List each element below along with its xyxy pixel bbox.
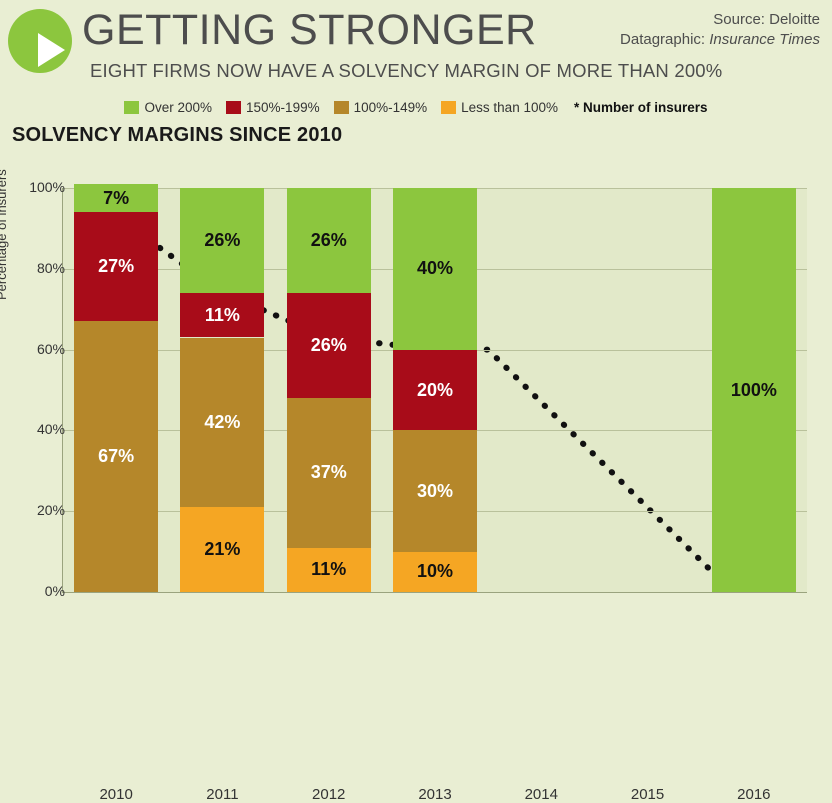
bar-segment: 67%: [74, 321, 158, 592]
bar-segment: 37%: [287, 398, 371, 547]
bar-segment-label: 42%: [204, 412, 240, 433]
legend-item-150-199: 150%-199%: [226, 100, 320, 115]
legend-swatch-150-199: [226, 101, 241, 114]
header: GETTING STRONGER EIGHT FIRMS NOW HAVE A …: [0, 0, 832, 108]
x-tick-label: 2010: [66, 786, 166, 803]
y-tick-label: 100%: [5, 179, 65, 195]
bar-segment-label: 26%: [204, 230, 240, 251]
section-title: SOLVENCY MARGINS SINCE 2010: [12, 124, 342, 147]
bar-column: 100%: [712, 188, 796, 592]
y-tick-label: 20%: [5, 502, 65, 518]
bar-segment-label: 7%: [103, 188, 129, 209]
bar-segment: 11%: [287, 548, 371, 592]
bar-column: 67%27%7%: [74, 188, 158, 592]
bar-segment: 27%: [74, 212, 158, 321]
x-tick-label: 2011: [172, 786, 272, 803]
bar-segment: 20%: [393, 350, 477, 431]
bar-segment-label: 20%: [417, 380, 453, 401]
y-tick-label: 40%: [5, 421, 65, 437]
bar-segment: 40%: [393, 188, 477, 350]
x-tick-label: 2013: [385, 786, 485, 803]
bar-segment-label: 40%: [417, 258, 453, 279]
x-tick-label: 2016: [704, 786, 804, 803]
bar-segment: 30%: [393, 430, 477, 551]
bar-column: [606, 188, 690, 592]
page-title: GETTING STRONGER: [82, 6, 537, 55]
x-tick-label: 2014: [491, 786, 591, 803]
bar-segment: 100%: [712, 188, 796, 592]
source-line: Source: Deloitte: [620, 10, 820, 30]
bar-segment: 21%: [180, 507, 264, 592]
legend-label-100-149: 100%-149%: [354, 100, 428, 115]
x-tick-label: 2012: [279, 786, 379, 803]
legend-note: * Number of insurers: [574, 100, 708, 115]
legend-swatch-over-200: [124, 101, 139, 114]
bar-column: 10%30%20%40%: [393, 188, 477, 592]
legend-item-less-than-100: Less than 100%: [441, 100, 558, 115]
chart-legend: Over 200% 150%-199% 100%-149% Less than …: [0, 100, 832, 115]
legend-label-150-199: 150%-199%: [246, 100, 320, 115]
bar-segment-label: 26%: [311, 230, 347, 251]
bar-segment-label: 26%: [311, 335, 347, 356]
bar-segment: 42%: [180, 338, 264, 508]
bar-segment: 26%: [180, 188, 264, 293]
x-tick-label: 2015: [598, 786, 698, 803]
legend-label-less-than-100: Less than 100%: [461, 100, 558, 115]
bar-segment-label: 27%: [98, 256, 134, 277]
bar-segment-label: 37%: [311, 462, 347, 483]
bar-segment: 11%: [180, 293, 264, 337]
bar-segment: 10%: [393, 552, 477, 592]
legend-swatch-100-149: [334, 101, 349, 114]
bar-segment-label: 100%: [731, 380, 777, 401]
play-triangle-icon: [38, 33, 65, 67]
legend-item-over-200: Over 200%: [124, 100, 212, 115]
bar-column: 11%37%26%26%: [287, 188, 371, 592]
bar-segment: 26%: [287, 188, 371, 293]
y-tick-label: 60%: [5, 341, 65, 357]
bar-segment-label: 11%: [205, 305, 240, 326]
legend-swatch-less-than-100: [441, 101, 456, 114]
chart-plot-area: 0%20%40%60%80%100%201015*67%27%7%201119*…: [62, 188, 807, 593]
bar-segment-label: 11%: [311, 559, 346, 580]
bar-segment-label: 10%: [417, 561, 453, 582]
source-block: Source: Deloitte Datagraphic: Insurance …: [620, 10, 820, 50]
y-axis-label: Percentage of insurers: [0, 169, 9, 300]
bar-column: [499, 188, 583, 592]
datagraphic-label: Datagraphic:: [620, 31, 705, 48]
logo-circle: [8, 9, 72, 73]
legend-item-100-149: 100%-149%: [334, 100, 428, 115]
bar-segment: 26%: [287, 293, 371, 398]
y-tick-label: 0%: [5, 583, 65, 599]
datagraphic-line: Datagraphic: Insurance Times: [620, 30, 820, 50]
bar-segment-label: 21%: [204, 539, 240, 560]
page-subtitle: EIGHT FIRMS NOW HAVE A SOLVENCY MARGIN O…: [90, 60, 722, 82]
bar-column: 21%42%11%26%: [180, 188, 264, 592]
y-tick-label: 80%: [5, 260, 65, 276]
bar-segment-label: 30%: [417, 481, 453, 502]
datagraphic-value: Insurance Times: [709, 31, 820, 48]
bar-segment-label: 67%: [98, 446, 134, 467]
bar-segment: 7%: [74, 184, 158, 212]
legend-label-over-200: Over 200%: [144, 100, 212, 115]
